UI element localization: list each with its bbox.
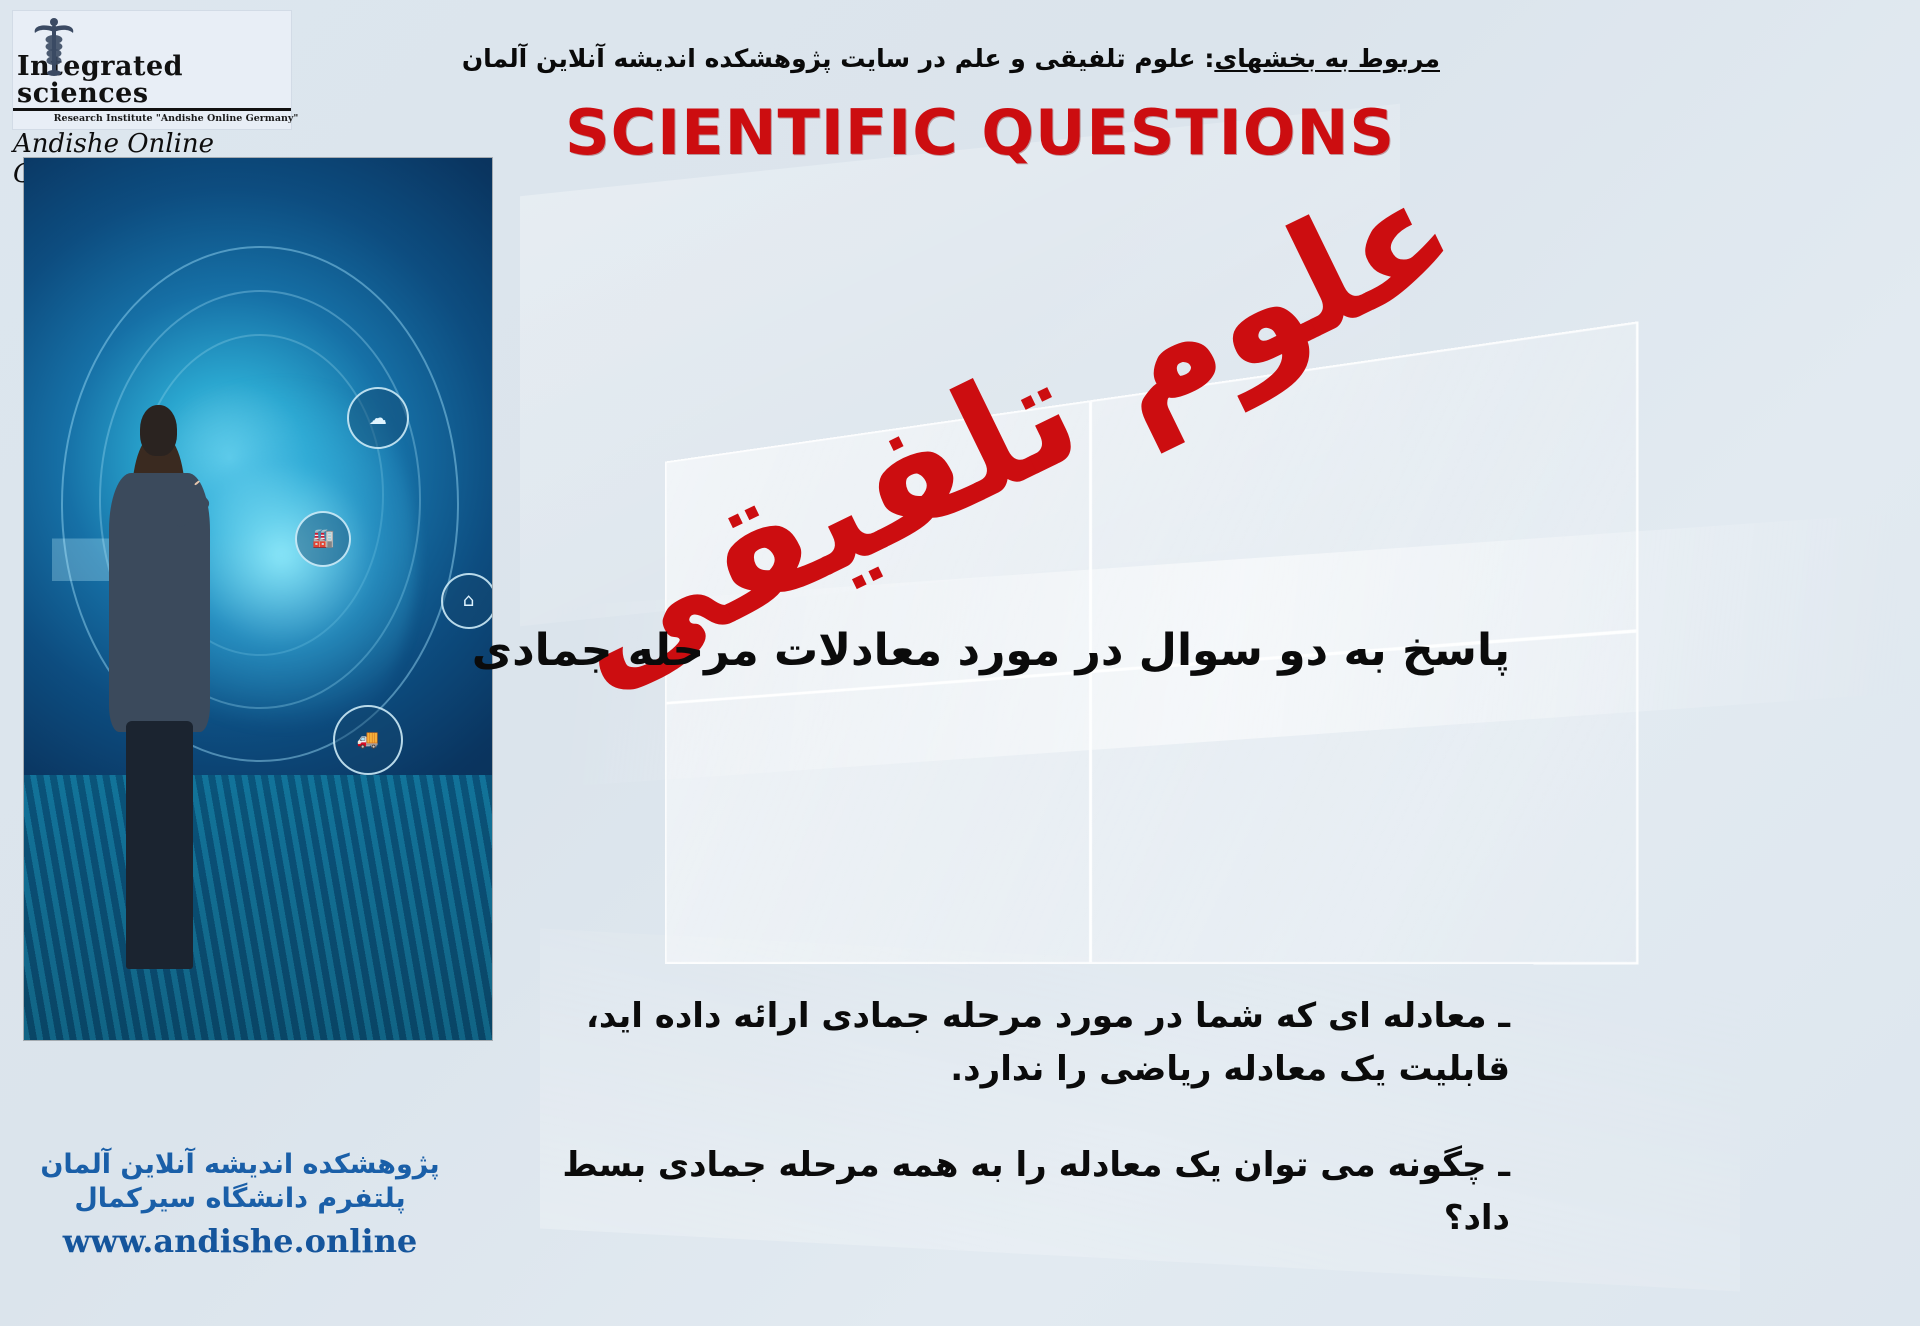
photo-person [90, 405, 230, 969]
photo-person-legs [126, 721, 193, 969]
hero-photo: ☁ 🏭 ⌂ 🚚 [24, 158, 492, 1040]
question-item-2: ـ چگونه می توان یک معادله را به همه مرحل… [500, 1139, 1510, 1244]
subtitle: پاسخ به دو سوال در مورد معادلات مرحله جم… [500, 625, 1510, 676]
logo-subtitle: Research Institute "Andishe Online Germa… [54, 113, 299, 124]
photo-cloud-node-icon: ☁ [347, 387, 409, 449]
institute-logo: Integrated sciences Research Institute "… [12, 10, 292, 130]
photo-person-hand [194, 481, 200, 486]
footer-url[interactable]: www.andishe.online [40, 1222, 440, 1260]
kicker-line: مربوط به بخشهای: علوم تلفیقی و علم در سا… [520, 44, 1440, 73]
page-title: SCIENTIFIC QUESTIONS [500, 96, 1460, 169]
footer-line-1: پژوهشکده اندیشه آنلاین آلمان [40, 1148, 440, 1182]
kicker-underlined-part: مربوط به بخشهای [1214, 44, 1440, 73]
photo-truck-node-icon: 🚚 [333, 705, 403, 775]
question-list: ـ معادله ای که شما در مورد مرحله جمادی ا… [500, 990, 1510, 1289]
photo-person-head [140, 405, 177, 456]
caduceus-icon [31, 15, 77, 77]
photo-person-arm [164, 484, 212, 529]
photo-person-body [109, 473, 210, 733]
footer-line-2: پلتفرم دانشگاه سیرکمال [40, 1182, 440, 1216]
poster-canvas: Integrated sciences Research Institute "… [0, 0, 1920, 1326]
photo-factory-node-icon: 🏭 [295, 511, 351, 567]
photo-home-node-icon: ⌂ [441, 573, 492, 629]
kicker-rest-part: : علوم تلفیقی و علم در سایت پژوهشکده اند… [462, 44, 1215, 73]
question-item-1: ـ معادله ای که شما در مورد مرحله جمادی ا… [500, 990, 1510, 1095]
footer-block: پژوهشکده اندیشه آنلاین آلمان پلتفرم دانش… [40, 1148, 440, 1260]
